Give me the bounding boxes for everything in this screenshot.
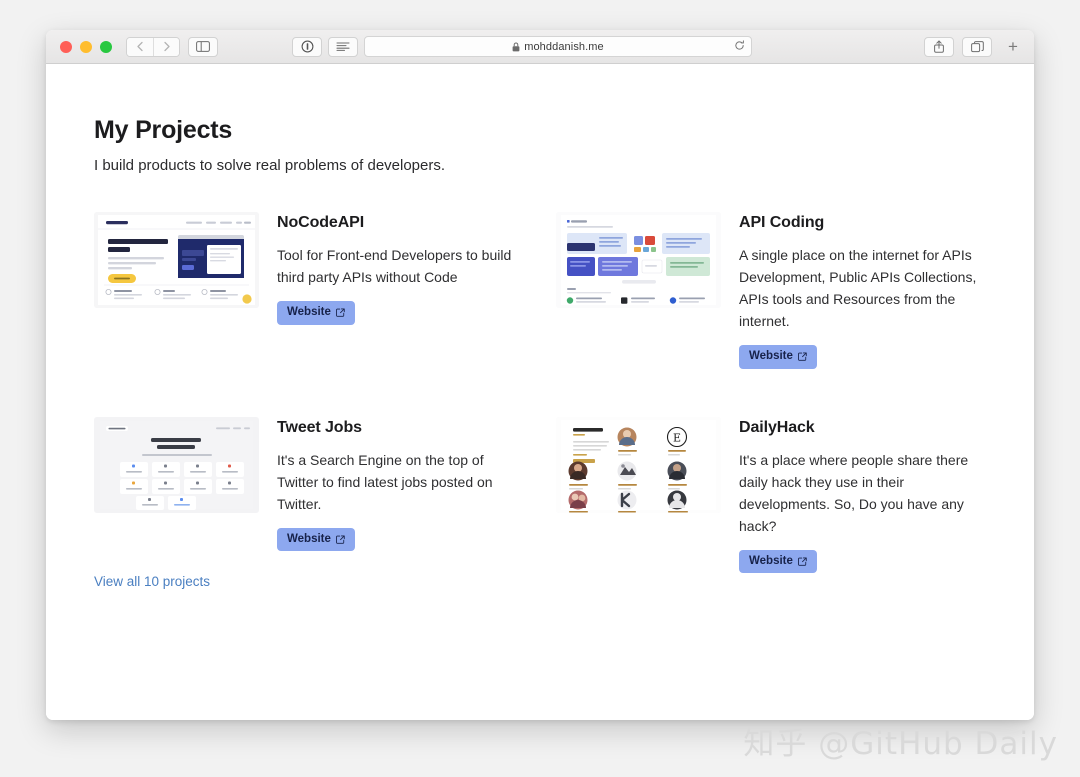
project-title: Tweet Jobs — [277, 419, 556, 437]
project-title: NoCodeAPI — [277, 214, 556, 232]
sidebar-icon — [196, 41, 210, 52]
project-title: DailyHack — [739, 419, 1018, 437]
website-button[interactable]: Website — [739, 345, 817, 369]
dailyhack-contributors-preview: E — [556, 417, 721, 513]
reader-mode-button[interactable] — [328, 37, 358, 57]
project-info: API Coding A single place on the interne… — [739, 212, 1018, 369]
url-display: mohddanish.me — [512, 41, 604, 53]
project-description: A single place on the internet for APIs … — [739, 244, 989, 332]
address-bar-cluster: mohddanish.me — [292, 36, 752, 57]
website-button-label: Website — [287, 307, 331, 319]
website-button-label: Website — [749, 351, 793, 363]
window-controls — [60, 41, 112, 53]
apicoding-cards-preview — [556, 212, 721, 308]
project-card: API Coding A single place on the interne… — [556, 212, 1018, 369]
tab-overview-button[interactable] — [962, 37, 992, 57]
project-description: It's a place where people share there da… — [739, 449, 989, 537]
navigation-buttons — [126, 37, 180, 57]
content-container: My Projects I build products to solve re… — [46, 116, 1034, 591]
project-info: Tweet Jobs It's a Search Engine on the t… — [277, 417, 556, 552]
share-icon — [933, 40, 945, 53]
external-link-icon — [798, 557, 807, 566]
project-title: API Coding — [739, 214, 1018, 232]
forward-button[interactable] — [153, 37, 179, 57]
new-tab-button[interactable]: + — [1000, 34, 1026, 60]
project-card: NoCodeAPI Tool for Front-end Developers … — [94, 212, 556, 369]
page-title: My Projects — [94, 116, 994, 145]
external-link-icon — [798, 352, 807, 361]
view-all-projects-link[interactable]: View all 10 projects — [94, 574, 210, 589]
project-description: It's a Search Engine on the top of Twitt… — [277, 449, 527, 515]
website-button[interactable]: Website — [739, 550, 817, 574]
project-thumbnail-dailyhack[interactable]: E — [556, 417, 721, 513]
nocodeapi-landing-preview — [94, 212, 259, 308]
tweetjobs-categories-preview — [94, 417, 259, 513]
svg-text:E: E — [673, 431, 681, 444]
minimize-window-button[interactable] — [80, 41, 92, 53]
privacy-shield-icon — [301, 40, 314, 53]
project-card: E — [556, 417, 1018, 574]
close-window-button[interactable] — [60, 41, 72, 53]
project-info: NoCodeAPI Tool for Front-end Developers … — [277, 212, 556, 325]
project-thumbnail-nocodeapi[interactable] — [94, 212, 259, 308]
project-description: Tool for Front-end Developers to build t… — [277, 244, 527, 288]
privacy-report-button[interactable] — [292, 37, 322, 57]
page-subtitle: I build products to solve real problems … — [94, 157, 994, 174]
projects-grid: NoCodeAPI Tool for Front-end Developers … — [94, 212, 994, 573]
tabs-icon — [971, 41, 984, 53]
zoom-window-button[interactable] — [100, 41, 112, 53]
back-button[interactable] — [127, 37, 153, 57]
address-bar[interactable]: mohddanish.me — [364, 36, 752, 57]
url-text: mohddanish.me — [524, 41, 604, 53]
project-thumbnail-apicoding[interactable] — [556, 212, 721, 308]
share-button[interactable] — [924, 37, 954, 57]
website-button-label: Website — [287, 534, 331, 546]
website-button[interactable]: Website — [277, 301, 355, 325]
browser-window: mohddanish.me — [46, 30, 1034, 720]
website-button[interactable]: Website — [277, 528, 355, 552]
reader-lines-icon — [336, 41, 350, 52]
page-content: My Projects I build products to solve re… — [46, 64, 1034, 720]
project-info: DailyHack It's a place where people shar… — [739, 417, 1018, 574]
watermark: 知乎 @GitHub Daily — [743, 718, 1058, 763]
chevron-left-icon — [135, 41, 146, 52]
reload-button[interactable] — [734, 38, 745, 56]
external-link-icon — [336, 308, 345, 317]
reload-icon — [734, 40, 745, 51]
project-card: Tweet Jobs It's a Search Engine on the t… — [94, 417, 556, 574]
lock-icon — [512, 42, 520, 52]
project-thumbnail-tweetjobs[interactable] — [94, 417, 259, 513]
chevron-right-icon — [161, 41, 172, 52]
website-button-label: Website — [749, 556, 793, 568]
sidebar-toggle-button[interactable] — [188, 37, 218, 57]
toolbar-right-cluster: + — [924, 34, 1026, 60]
browser-toolbar: mohddanish.me — [46, 30, 1034, 64]
external-link-icon — [336, 535, 345, 544]
